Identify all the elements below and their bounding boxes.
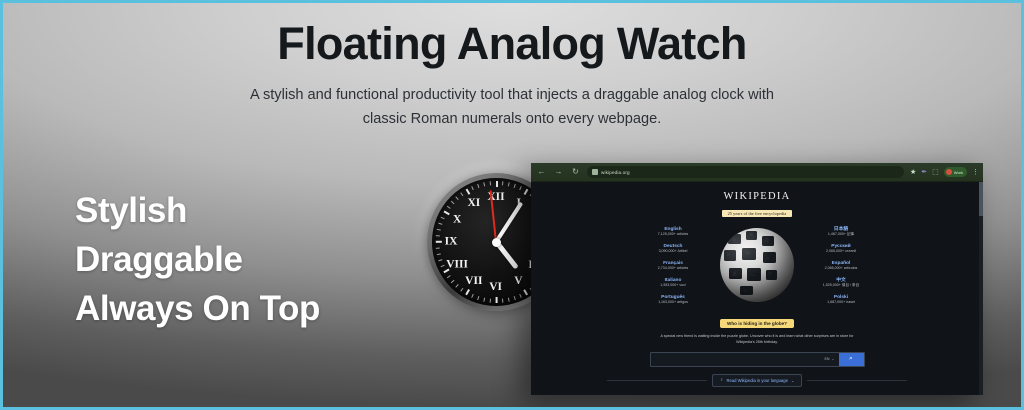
language-link-portugues[interactable]: Português 1,163,000+ artigos	[630, 295, 716, 305]
cast-icon[interactable]: ⬚	[932, 168, 939, 176]
clock-tick	[436, 241, 442, 243]
browser-menu-icon[interactable]: ⋮	[972, 168, 978, 176]
back-icon[interactable]: ←	[536, 167, 547, 178]
divider-right	[807, 380, 907, 381]
browser-window: ← → ↻ wikipedia.org ★ ✒ ⬚ Work ⋮ WIKIPED…	[531, 163, 983, 395]
language-count: 1,163,000+ artigos	[630, 301, 716, 305]
clock-tick	[496, 181, 498, 187]
clock-tick	[502, 181, 503, 185]
language-count: 1,687,000+ haseł	[798, 301, 884, 305]
clock-tick	[444, 211, 450, 215]
language-link-italiano[interactable]: Italiano 1,953,000+ voci	[630, 278, 716, 288]
read-language-row: ♁ Read Wikipedia in your language ⌄	[607, 374, 907, 387]
promo-section: Who is hiding in the globe? A special ne…	[531, 312, 983, 345]
clock-tick	[438, 223, 442, 225]
page-scrollbar[interactable]	[979, 182, 983, 395]
clock-tick	[436, 235, 440, 236]
language-count: 2,065,000+ статей	[798, 250, 884, 254]
read-in-your-language-button[interactable]: ♁ Read Wikipedia in your language ⌄	[712, 374, 803, 387]
clock-tick	[436, 247, 440, 248]
bookmark-star-icon[interactable]: ★	[910, 168, 916, 176]
clock-tick	[519, 186, 522, 190]
language-link-japanese[interactable]: 日本語 1,467,000+ 記事	[798, 227, 884, 237]
search-language-select[interactable]: EN ⌄	[820, 353, 838, 366]
language-count: 2,066,000+ artículos	[798, 267, 884, 271]
clock-tick	[447, 275, 451, 278]
promo-badge[interactable]: Who is hiding in the globe?	[720, 319, 794, 328]
url-input[interactable]: wikipedia.org	[601, 170, 630, 175]
clock-tick	[451, 201, 455, 204]
clock-tick	[460, 192, 463, 196]
wikipedia-tagline: 25 years of the free encyclopedia	[722, 210, 793, 217]
clock-tick	[483, 182, 485, 186]
wikipedia-search-bar[interactable]: EN ⌄ ⌕	[650, 352, 865, 367]
language-count: 1,467,000+ 記事	[798, 233, 884, 237]
clock-tick	[514, 184, 516, 188]
promo-description: A special new friend is waiting inside t…	[657, 334, 857, 345]
clock-tick	[438, 259, 442, 261]
clock-tick	[524, 189, 528, 195]
language-count: 1,525,000+ 條目 / 条目	[798, 284, 884, 288]
wikipedia-homepage: WIKIPEDIA 25 years of the free encyclope…	[531, 182, 983, 395]
feature-list: Stylish Draggable Always On Top	[75, 192, 320, 327]
reload-icon[interactable]: ↻	[570, 167, 581, 178]
feature-item-stylish: Stylish	[75, 192, 320, 229]
divider-left	[607, 380, 707, 381]
clock-tick	[524, 289, 528, 295]
address-bar[interactable]: wikipedia.org	[587, 166, 904, 179]
clock-tick	[437, 253, 441, 255]
clock-center-cap	[492, 238, 501, 247]
language-link-english[interactable]: English 7,125,000+ articles	[630, 227, 716, 237]
wikipedia-globe-logo[interactable]: 字 Ж Ω א क ก あ ب W ர	[720, 228, 794, 302]
language-globe-row: English 7,125,000+ articles Deutsch 3,09…	[531, 226, 983, 305]
clock-minute-hand	[494, 202, 523, 243]
search-input[interactable]	[651, 353, 821, 366]
clock-tick	[437, 229, 441, 231]
language-link-deutsch[interactable]: Deutsch 3,090,000+ Artikel	[630, 244, 716, 254]
browser-toolbar: ← → ↻ wikipedia.org ★ ✒ ⬚ Work ⋮	[531, 163, 983, 182]
clock-tick	[455, 196, 458, 200]
language-link-francais[interactable]: Français 2,734,000+ articles	[630, 261, 716, 271]
clock-tick	[477, 184, 479, 188]
banner-header: Floating Analog Watch A stylish and func…	[3, 17, 1021, 131]
feature-item-draggable: Draggable	[75, 241, 320, 278]
site-info-icon[interactable]	[592, 169, 598, 175]
clock-tick	[508, 182, 510, 186]
clock-tick	[477, 296, 479, 300]
clock-tick	[471, 186, 474, 190]
wikipedia-wordmark: WIKIPEDIA	[531, 191, 983, 202]
clock-tick	[441, 265, 445, 268]
language-link-polski[interactable]: Polski 1,687,000+ haseł	[798, 295, 884, 305]
language-count: 3,090,000+ Artikel	[630, 250, 716, 254]
language-link-espanol[interactable]: Español 2,066,000+ artículos	[798, 261, 884, 271]
promo-banner: Floating Analog Watch A stylish and func…	[0, 0, 1024, 410]
language-count: 7,125,000+ articles	[630, 233, 716, 237]
clock-tick	[471, 294, 474, 298]
clock-tick	[447, 206, 451, 209]
forward-icon[interactable]: →	[553, 167, 564, 178]
clock-tick	[455, 284, 458, 288]
clock-tick	[490, 181, 491, 185]
chevron-down-icon: ⌄	[791, 378, 794, 383]
clock-tick	[502, 299, 503, 303]
feature-item-always-on-top: Always On Top	[75, 290, 320, 327]
clock-tick	[441, 217, 445, 220]
wikipedia-logo-block: WIKIPEDIA 25 years of the free encyclope…	[531, 191, 983, 220]
page-subtitle: A stylish and functional productivity to…	[232, 84, 792, 131]
globe-icon: ♁	[720, 377, 724, 383]
scrollbar-thumb[interactable]	[979, 182, 983, 216]
language-link-chinese[interactable]: 中文 1,525,000+ 條目 / 条目	[798, 278, 884, 288]
clock-tick	[460, 288, 463, 292]
clock-tick	[466, 289, 470, 295]
profile-chip[interactable]: Work	[944, 167, 967, 177]
clock-tick	[519, 294, 522, 298]
clock-tick	[496, 297, 498, 303]
clock-tick	[508, 298, 510, 302]
clock-tick	[514, 296, 516, 300]
language-column-left: English 7,125,000+ articles Deutsch 3,09…	[630, 226, 716, 305]
globe-shading	[720, 228, 794, 302]
language-count: 1,953,000+ voci	[630, 284, 716, 288]
search-language-value: EN	[824, 357, 829, 361]
page-title: Floating Analog Watch	[3, 17, 1021, 70]
clock-tick	[451, 280, 455, 283]
clock-tick	[490, 299, 491, 303]
read-button-label: Read Wikipedia in your language	[726, 378, 787, 383]
avatar	[946, 169, 952, 175]
language-column-right: 日本語 1,467,000+ 記事 Русский 2,065,000+ ста…	[798, 226, 884, 305]
clock-tick	[483, 298, 485, 302]
language-count: 2,734,000+ articles	[630, 267, 716, 271]
chevron-down-icon: ⌄	[831, 357, 834, 361]
search-button[interactable]: ⌕	[839, 353, 864, 366]
toolbar-actions: ★ ✒ ⬚ Work ⋮	[910, 167, 978, 177]
extensions-icon[interactable]: ✒	[921, 168, 927, 176]
clock-tick	[466, 189, 470, 195]
profile-label: Work	[954, 170, 963, 175]
language-link-russian[interactable]: Русский 2,065,000+ статей	[798, 244, 884, 254]
